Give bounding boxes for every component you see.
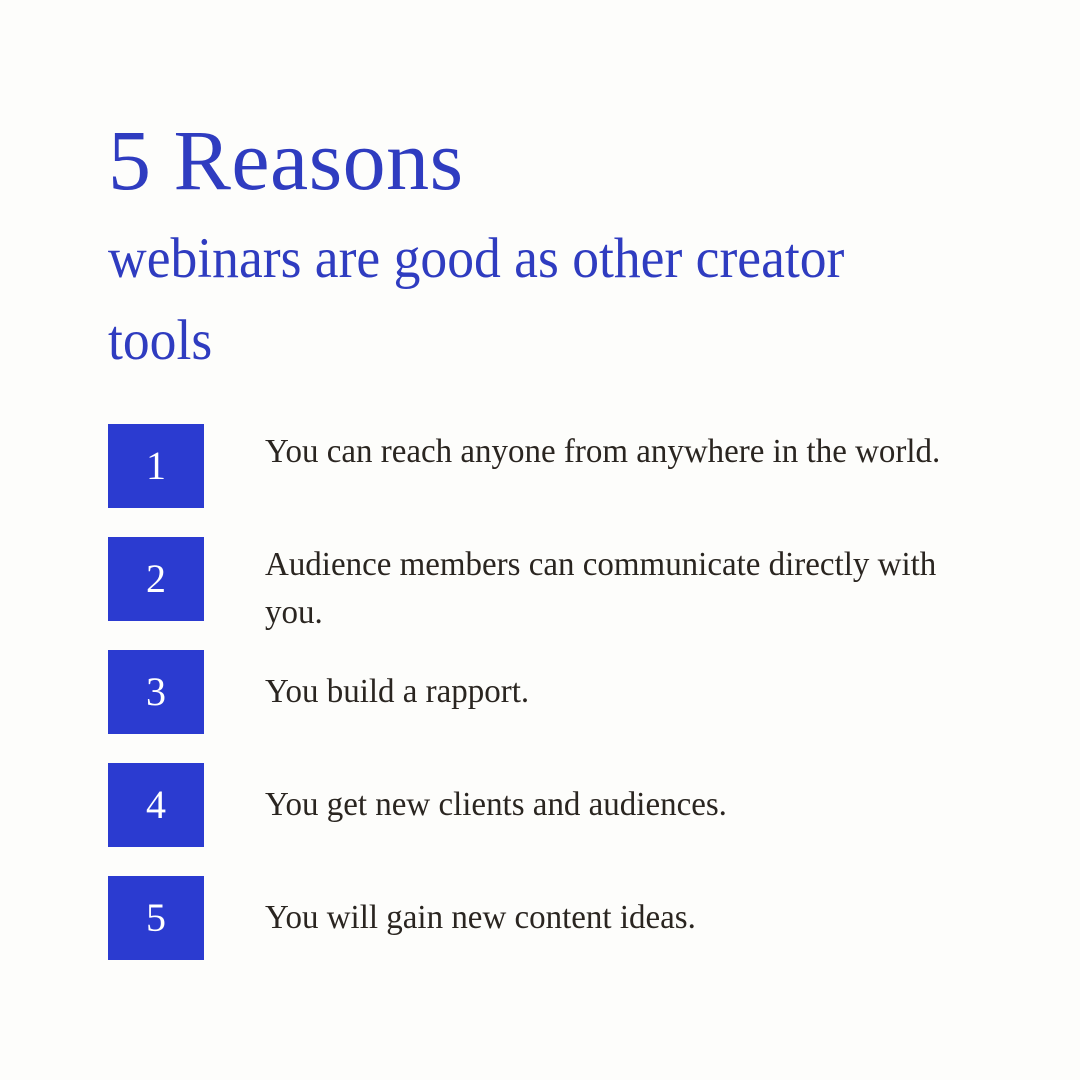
reason-number-badge: 1 xyxy=(108,424,204,508)
headline-block: 5 Reasons webinars are good as other cre… xyxy=(108,112,968,382)
reason-text: You will gain new content ideas. xyxy=(265,876,947,942)
reason-text: Audience members can communicate directl… xyxy=(265,537,947,637)
list-item: 4 You get new clients and audiences. xyxy=(108,763,968,847)
list-item: 5 You will gain new content ideas. xyxy=(108,876,968,960)
reason-number-badge: 5 xyxy=(108,876,204,960)
reason-list: 1 You can reach anyone from anywhere in … xyxy=(108,424,968,960)
reason-number-badge: 4 xyxy=(108,763,204,847)
reason-number-badge: 2 xyxy=(108,537,204,621)
list-item: 1 You can reach anyone from anywhere in … xyxy=(108,424,968,508)
reason-text: You can reach anyone from anywhere in th… xyxy=(265,424,947,476)
reason-text: You build a rapport. xyxy=(265,650,947,716)
poster-canvas: 5 Reasons webinars are good as other cre… xyxy=(0,0,1080,1080)
reason-text: You get new clients and audiences. xyxy=(265,763,947,829)
list-item: 3 You build a rapport. xyxy=(108,650,968,734)
reason-number-badge: 3 xyxy=(108,650,204,734)
page-subtitle: webinars are good as other creator tools xyxy=(108,208,888,382)
list-item: 2 Audience members can communicate direc… xyxy=(108,537,968,621)
page-title: 5 Reasons xyxy=(108,112,968,208)
